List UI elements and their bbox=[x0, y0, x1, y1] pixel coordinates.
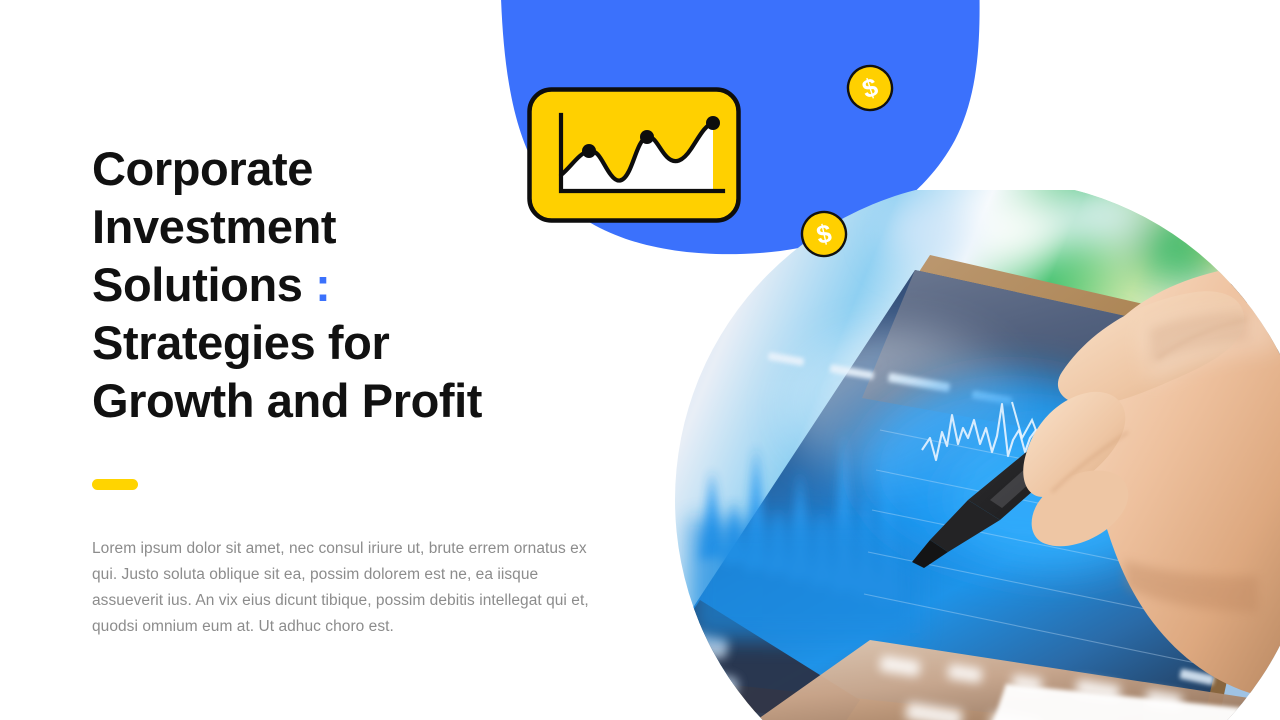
headline-accent-colon: : bbox=[315, 258, 330, 311]
headline-line-1: Corporate bbox=[92, 142, 313, 195]
headline-line-5: Growth and Profit bbox=[92, 374, 482, 427]
presentation-slide: $ $ CorporateInvestmentSolutions :Strate… bbox=[0, 0, 1280, 720]
dollar-coin-icon-bottom: $ bbox=[799, 209, 849, 259]
headline-line-4: Strategies for bbox=[92, 316, 389, 369]
chart-marker bbox=[706, 116, 720, 130]
dollar-coin-icon-top: $ bbox=[845, 63, 895, 113]
chart-marker bbox=[640, 130, 654, 144]
headline-block: CorporateInvestmentSolutions :Strategies… bbox=[92, 140, 612, 430]
headline-line-2: Investment bbox=[92, 200, 336, 253]
body-paragraph: Lorem ipsum dolor sit amet, nec consul i… bbox=[92, 536, 598, 640]
headline-line-3: Solutions bbox=[92, 258, 315, 311]
page-title: CorporateInvestmentSolutions :Strategies… bbox=[92, 140, 612, 430]
stylus-tablet-photo bbox=[660, 190, 1280, 720]
yellow-accent-bar bbox=[92, 479, 138, 490]
